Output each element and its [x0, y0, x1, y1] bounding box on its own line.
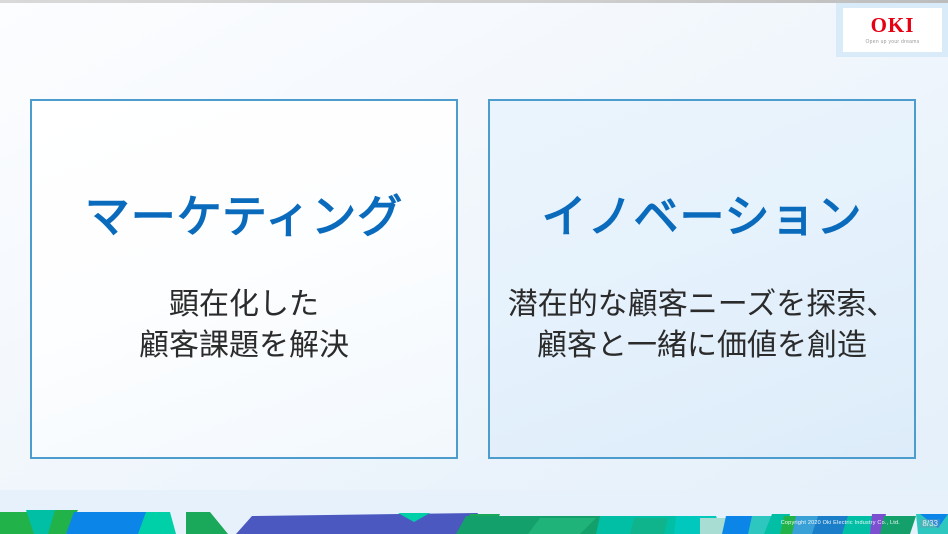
decorative-bottom-band: Copyright 2020 Oki Electric Industry Co.…	[0, 490, 948, 534]
panel-innovation-body: 潜在的な顧客ニーズを探索、 顧客と一緒に価値を創造	[508, 285, 897, 366]
panel-marketing: マーケティング 顕在化した 顧客課題を解決	[30, 99, 458, 459]
facet-teal-4	[630, 518, 668, 534]
top-edge-strip	[0, 0, 948, 3]
logo-tagline: Open up your dreams	[865, 39, 919, 45]
panel-marketing-body-line-2: 顧客課題を解決	[139, 326, 349, 367]
facet-indigo-1	[236, 513, 478, 534]
band-facets	[0, 490, 948, 534]
logo-wordmark: OKI	[871, 15, 915, 36]
panel-marketing-body: 顕在化した 顧客課題を解決	[139, 285, 349, 366]
panel-innovation-body-line-1: 潜在的な顧客ニーズを探索、	[508, 285, 897, 326]
oki-logo: OKI Open up your dreams	[843, 8, 942, 52]
panel-innovation-heading: イノベーション	[541, 192, 862, 242]
slide-canvas: OKI Open up your dreams マーケティング 顕在化した 顧客…	[0, 0, 948, 534]
footer-page-number: 8/33	[920, 519, 940, 528]
panel-marketing-body-line-1: 顕在化した	[139, 285, 349, 326]
footer-copyright: Copyright 2020 Oki Electric Industry Co.…	[781, 520, 900, 526]
panel-marketing-heading: マーケティング	[85, 192, 403, 242]
panel-innovation: イノベーション 潜在的な顧客ニーズを探索、 顧客と一緒に価値を創造	[488, 99, 916, 459]
facet-blue-1	[66, 512, 150, 534]
panel-innovation-body-line-2: 顧客と一緒に価値を創造	[508, 326, 897, 367]
